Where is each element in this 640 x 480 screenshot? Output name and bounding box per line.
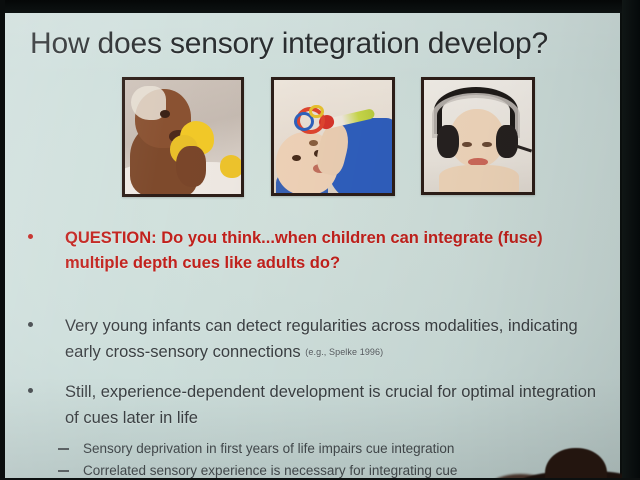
- bullet-question: QUESTION: Do you think...when children c…: [28, 226, 598, 276]
- sub-bullet-deprivation-text: Sensory deprivation in first years of li…: [83, 441, 454, 456]
- projected-slide-photo: How does sensory integration develop?: [0, 0, 640, 480]
- photo-baby-with-rattle: [271, 77, 395, 196]
- projection-edge-right: [622, 0, 640, 480]
- citation-spelke: (e.g., Spelke 1996): [305, 347, 383, 357]
- dash-icon: [58, 470, 69, 472]
- photo-baby-with-duck: [122, 77, 244, 197]
- bullet-experience-dependent: Still, experience-dependent development …: [28, 379, 613, 431]
- dash-icon: [58, 448, 69, 450]
- projection-edge-top: [0, 0, 640, 13]
- photo-baby-with-headphones: [421, 77, 535, 195]
- photo-strip: [122, 77, 542, 199]
- sub-bullet-correlated-text: Correlated sensory experience is necessa…: [83, 463, 457, 478]
- bullet-infants-regularities: Very young infants can detect regulariti…: [28, 313, 603, 365]
- bullet-infants-text: Very young infants can detect regulariti…: [65, 313, 603, 365]
- bullet-dot-icon: [28, 234, 33, 239]
- sub-bullet-deprivation: Sensory deprivation in first years of li…: [58, 438, 618, 460]
- bullet-experience-text: Still, experience-dependent development …: [65, 379, 613, 431]
- projection-edge-left: [0, 0, 5, 480]
- slide-surface: How does sensory integration develop?: [5, 13, 620, 478]
- page-title: How does sensory integration develop?: [30, 26, 548, 62]
- bullet-question-text: QUESTION: Do you think...when children c…: [65, 226, 598, 276]
- bullet-dot-icon: [28, 388, 33, 393]
- bullet-dot-icon: [28, 322, 33, 327]
- sub-bullet-list: Sensory deprivation in first years of li…: [58, 438, 618, 478]
